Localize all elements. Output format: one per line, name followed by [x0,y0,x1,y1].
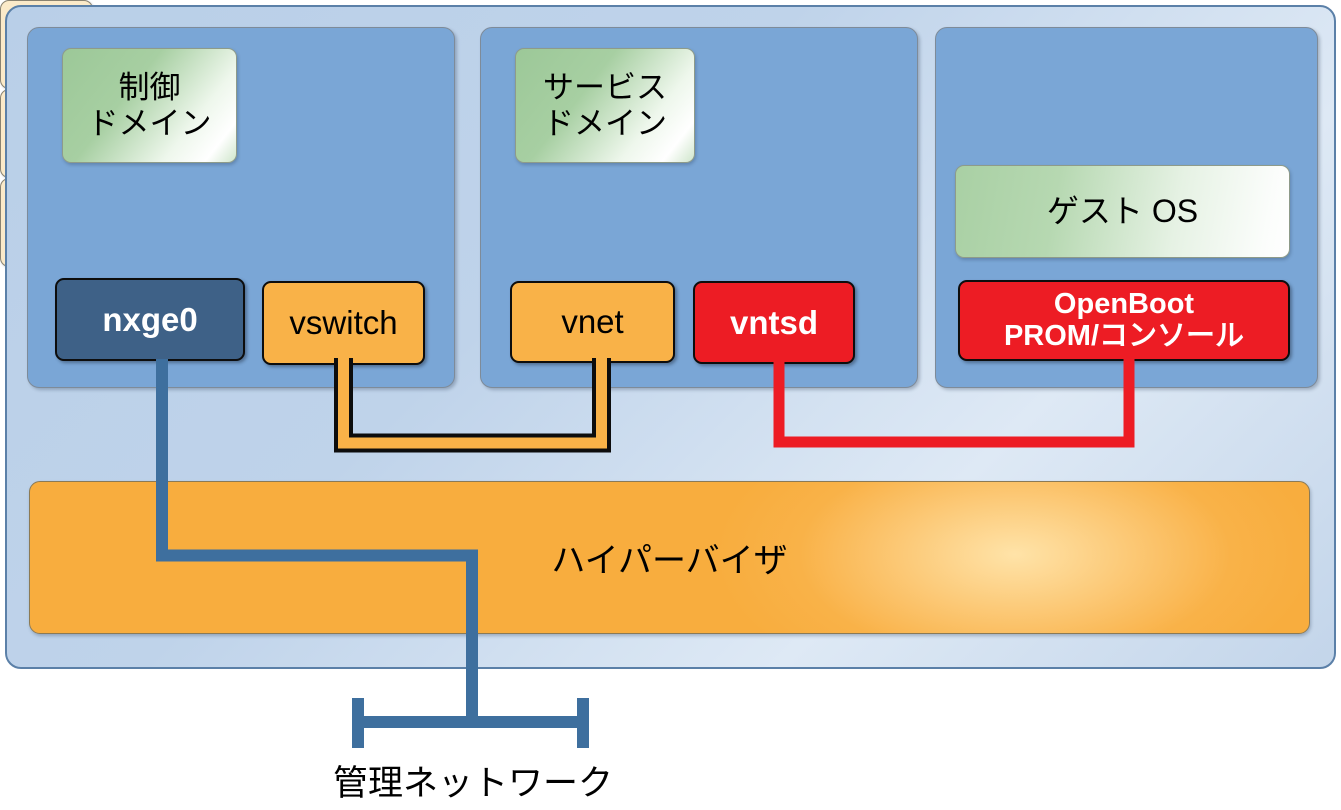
management-network-bus [358,698,583,748]
openboot-prom-console-node[interactable]: OpenBoot PROM/コンソール [958,280,1290,361]
hypervisor-bar: ハイパーバイザ [29,481,1310,634]
vswitch-node[interactable]: vswitch [262,281,425,365]
service-domain-label-box: サービス ドメイン [515,48,695,163]
vntsd-node[interactable]: vntsd [693,281,855,364]
guest-os-node: ゲスト OS [955,165,1290,258]
nxge0-node[interactable]: nxge0 [55,278,245,361]
vnet-node[interactable]: vnet [510,281,675,363]
control-domain-label-box: 制御 ドメイン [62,48,237,163]
diagram-canvas: 制御 ドメイン nxge0 vswitch サービス ドメイン vnet vnt… [0,0,1341,810]
hypervisor-label: ハイパーバイザ [30,482,1309,633]
management-network-label: 管理ネットワーク [228,755,718,806]
